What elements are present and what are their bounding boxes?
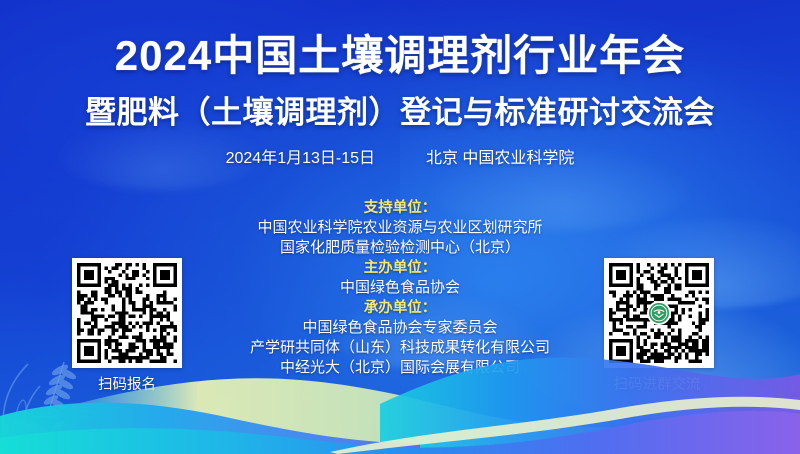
event-meta: 2024年1月13日-15日 北京 中国农业科学院: [0, 146, 800, 172]
org-line: 国家化肥质量检验检测中心（北京）: [0, 238, 800, 258]
org-line: 中国农业科学院农业资源与农业区划研究所: [0, 218, 800, 238]
event-date: 2024年1月13日-15日: [226, 150, 375, 167]
page-subtitle: 暨肥料（土壤调理剂）登记与标准研讨交流会: [0, 92, 800, 134]
green-food-association-logo: [647, 301, 671, 325]
qr-registration-caption: 扫码报名: [72, 375, 182, 395]
qr-group-chat-caption: 扫码进群交流: [600, 375, 714, 395]
qr-code-icon[interactable]: [72, 258, 182, 368]
qr-code-icon[interactable]: [604, 258, 714, 368]
qr-registration-block[interactable]: 扫码报名: [72, 258, 182, 395]
qr-group-chat-block[interactable]: 扫码进群交流: [604, 258, 714, 395]
poster-canvas: 2024中国土壤调理剂行业年会 暨肥料（土壤调理剂）登记与标准研讨交流会 202…: [0, 0, 800, 454]
event-location: 北京 中国农业科学院: [426, 150, 574, 167]
org-heading: 支持单位：: [0, 198, 800, 218]
page-title: 2024中国土壤调理剂行业年会: [0, 30, 800, 82]
